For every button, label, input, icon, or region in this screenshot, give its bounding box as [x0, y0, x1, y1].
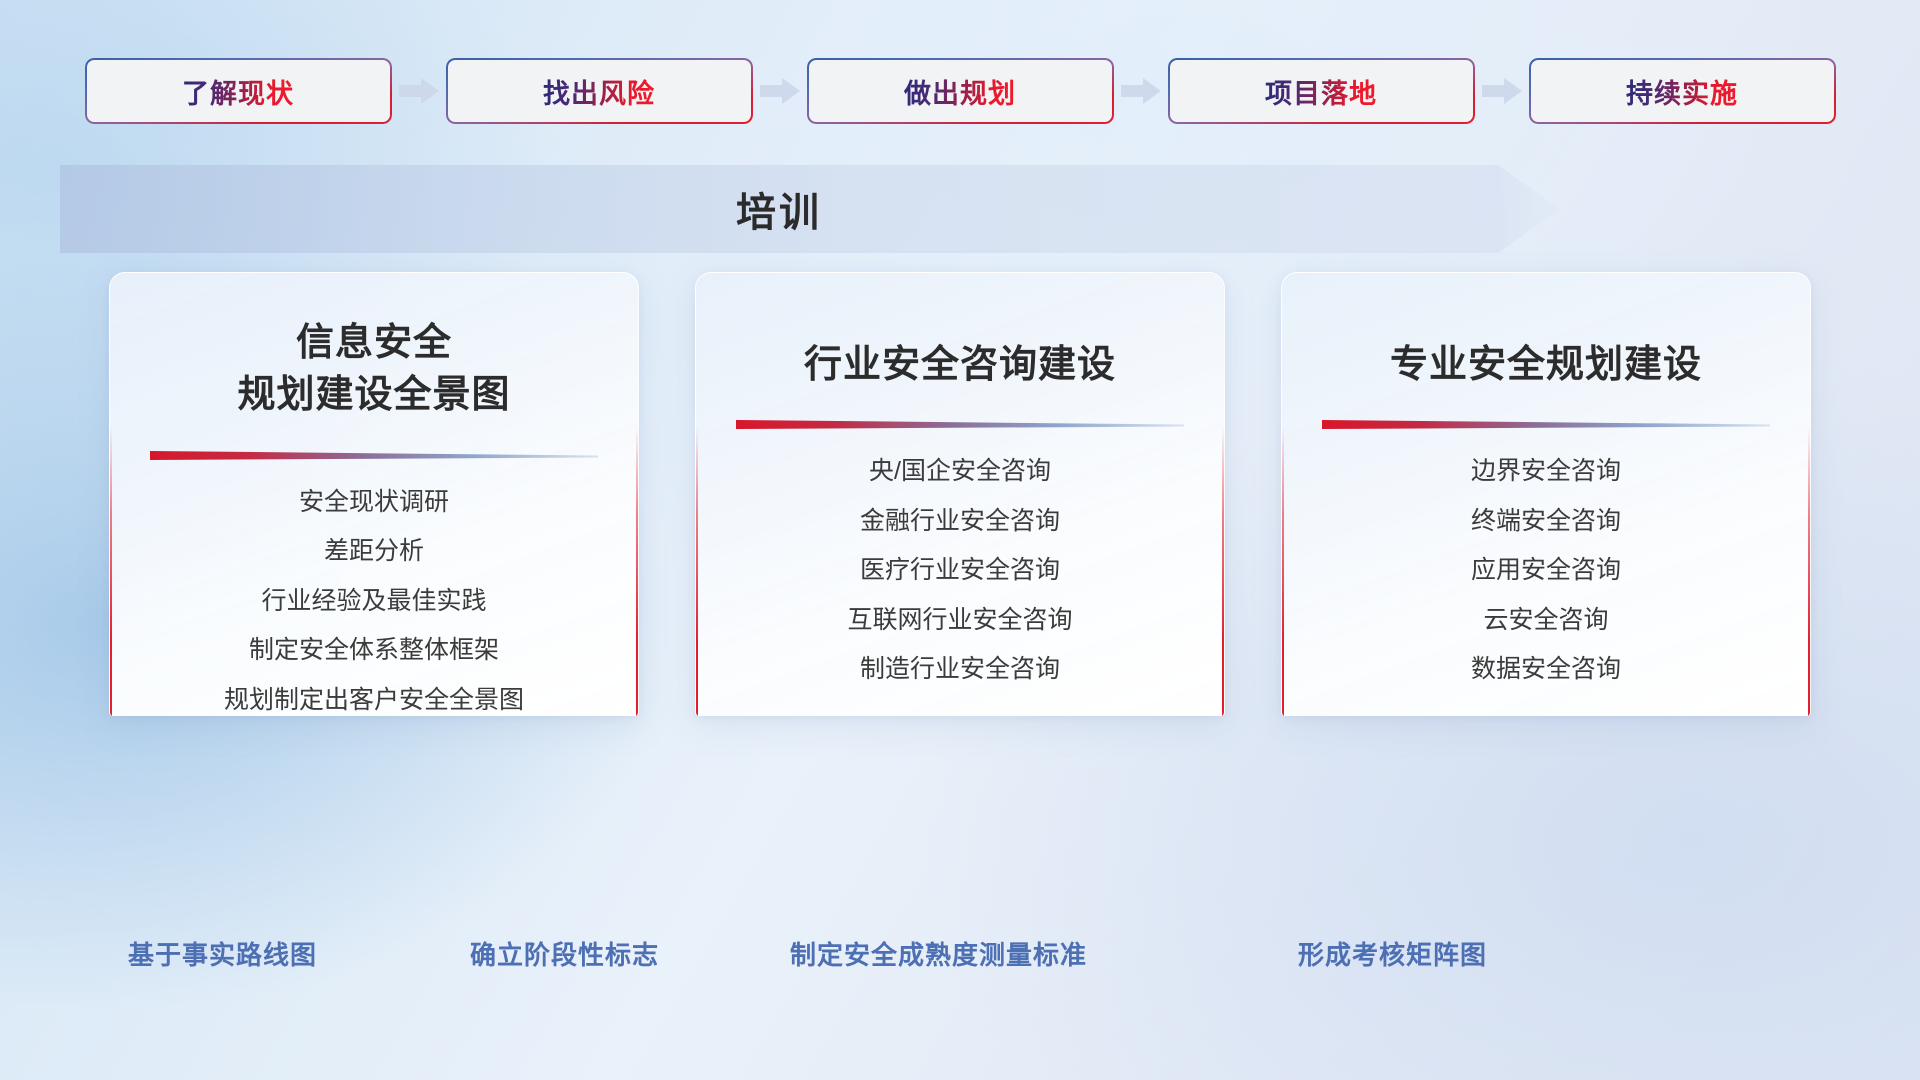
training-banner-title: 培训 [60, 165, 1498, 253]
slide-canvas: 了解现状找出风险做出规划项目落地持续实施 培训 信息安全 规划建设全景图安全现状… [0, 0, 1920, 1080]
arrow-right-icon [1114, 58, 1168, 124]
list-item: 规划制定出客户安全全景图 [224, 680, 524, 716]
card-item-list: 安全现状调研差距分析行业经验及最佳实践制定安全体系整体框架规划制定出客户安全全景… [110, 482, 638, 716]
list-item: 安全现状调研 [299, 482, 449, 523]
card-accent-rail-right [1808, 426, 1810, 716]
list-item: 制造行业安全咨询 [860, 649, 1060, 690]
card-item-list: 央/国企安全咨询金融行业安全咨询医疗行业安全咨询互联网行业安全咨询制造行业安全咨… [696, 451, 1224, 690]
card-accent-rail-left [110, 426, 112, 716]
card-divider [150, 448, 598, 464]
card-accent-rail-right [1222, 426, 1224, 716]
card-item-list: 边界安全咨询终端安全咨询应用安全咨询云安全咨询数据安全咨询 [1282, 451, 1810, 690]
step-box-1[interactable]: 了解现状 [85, 58, 392, 124]
list-item: 制定安全体系整体框架 [249, 630, 499, 671]
card-title: 信息安全 规划建设全景图 [110, 273, 638, 422]
caption-1: 基于事实路线图 [128, 935, 317, 972]
card-panel[interactable]: 信息安全 规划建设全景图安全现状调研差距分析行业经验及最佳实践制定安全体系整体框… [109, 272, 639, 716]
card-divider [1322, 417, 1770, 433]
list-item: 数据安全咨询 [1471, 649, 1621, 690]
step-box-3[interactable]: 做出规划 [807, 58, 1114, 124]
card-1: 信息安全 规划建设全景图安全现状调研差距分析行业经验及最佳实践制定安全体系整体框… [109, 272, 639, 716]
step-label: 找出风险 [543, 72, 655, 111]
card-panel[interactable]: 专业安全规划建设边界安全咨询终端安全咨询应用安全咨询云安全咨询数据安全咨询 [1281, 272, 1811, 716]
card-row: 信息安全 规划建设全景图安全现状调研差距分析行业经验及最佳实践制定安全体系整体框… [0, 272, 1920, 716]
list-item: 应用安全咨询 [1471, 550, 1621, 591]
list-item: 差距分析 [324, 531, 424, 572]
step-label: 项目落地 [1265, 72, 1377, 111]
card-accent-rail-right [636, 426, 638, 716]
banner-arrow-icon [1498, 155, 1560, 263]
list-item: 边界安全咨询 [1471, 451, 1621, 492]
card-accent-rail-left [696, 426, 698, 716]
training-banner: 培训 [60, 165, 1560, 253]
caption-row: 基于事实路线图确立阶段性标志制定安全成熟度测量标准形成考核矩阵图 [0, 935, 1920, 983]
card-panel[interactable]: 行业安全咨询建设央/国企安全咨询金融行业安全咨询医疗行业安全咨询互联网行业安全咨… [695, 272, 1225, 716]
card-2: 行业安全咨询建设央/国企安全咨询金融行业安全咨询医疗行业安全咨询互联网行业安全咨… [695, 272, 1225, 716]
card-accent-rail-left [1282, 426, 1284, 716]
step-box-2[interactable]: 找出风险 [446, 58, 753, 124]
list-item: 云安全咨询 [1483, 600, 1608, 641]
arrow-right-icon [753, 58, 807, 124]
caption-2: 确立阶段性标志 [470, 935, 659, 972]
step-box-4[interactable]: 项目落地 [1168, 58, 1475, 124]
card-title: 专业安全规划建设 [1282, 273, 1810, 391]
list-item: 终端安全咨询 [1471, 501, 1621, 542]
caption-3: 制定安全成熟度测量标准 [790, 935, 1087, 972]
arrow-right-icon [392, 58, 446, 124]
step-box-5[interactable]: 持续实施 [1529, 58, 1836, 124]
step-label: 持续实施 [1626, 72, 1738, 111]
card-3: 专业安全规划建设边界安全咨询终端安全咨询应用安全咨询云安全咨询数据安全咨询 [1281, 272, 1811, 716]
step-label: 了解现状 [182, 72, 294, 111]
list-item: 医疗行业安全咨询 [860, 550, 1060, 591]
caption-4: 形成考核矩阵图 [1298, 935, 1487, 972]
card-title: 行业安全咨询建设 [696, 273, 1224, 391]
list-item: 金融行业安全咨询 [860, 501, 1060, 542]
card-divider [736, 417, 1184, 433]
step-label: 做出规划 [904, 72, 1016, 111]
list-item: 行业经验及最佳实践 [261, 581, 486, 622]
list-item: 互联网行业安全咨询 [847, 600, 1072, 641]
arrow-right-icon [1475, 58, 1529, 124]
list-item: 央/国企安全咨询 [869, 451, 1051, 492]
process-steps: 了解现状找出风险做出规划项目落地持续实施 [0, 58, 1920, 124]
